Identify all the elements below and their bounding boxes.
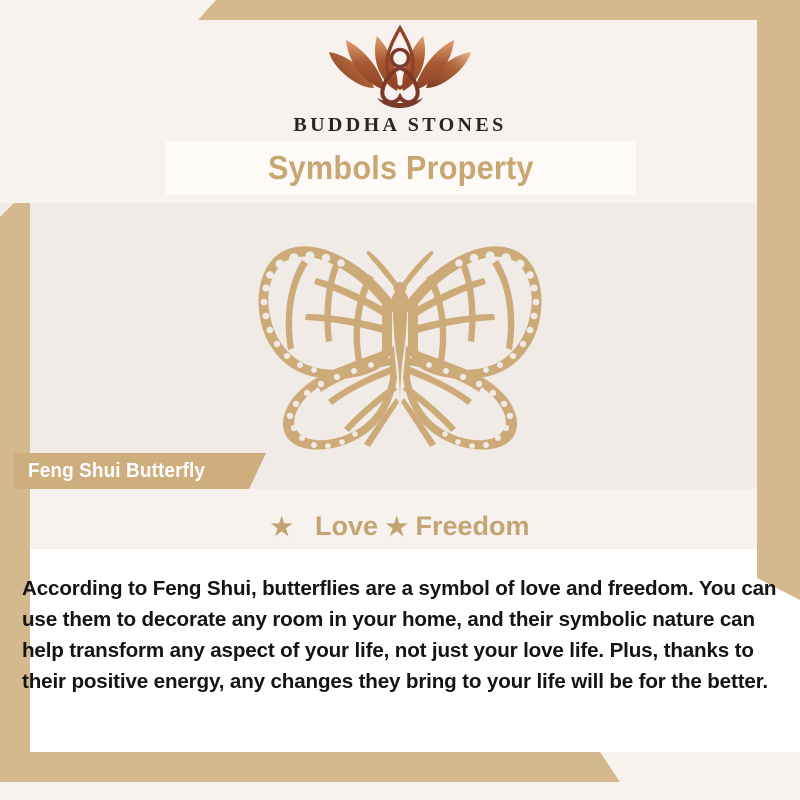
section-banner: Feng Shui Butterfly (14, 453, 266, 489)
star-icon-left: ★ (271, 513, 293, 541)
star-icon-middle: ★ (386, 513, 408, 541)
brand-logo: BUDDHA STONES (0, 22, 800, 137)
keyword-love: Love (315, 511, 378, 541)
page-title-band: Symbols Property (166, 141, 636, 195)
section-banner-label: Feng Shui Butterfly (28, 460, 205, 483)
symbols-property-infographic: BUDDHA STONES Symbols Property (0, 0, 800, 800)
description-paragraph: According to Feng Shui, butterflies are … (22, 573, 782, 697)
butterfly-illustration (222, 238, 578, 458)
keywords-heading: ★ Love ★ Freedom (0, 511, 800, 542)
lotus-meditating-figure-icon (315, 22, 485, 108)
butterfly-icon (222, 238, 578, 458)
keyword-freedom: Freedom (415, 511, 529, 541)
page-title: Symbols Property (268, 149, 534, 187)
brand-wordmark: BUDDHA STONES (0, 114, 800, 137)
